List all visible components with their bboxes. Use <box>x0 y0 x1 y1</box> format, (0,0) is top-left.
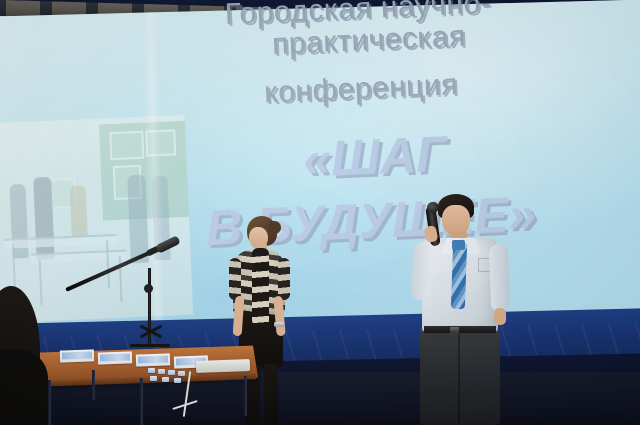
table-device <box>196 359 250 373</box>
table-badge <box>148 368 155 373</box>
woman-right-leg <box>264 364 278 425</box>
table-booklet <box>60 349 94 362</box>
slide-title-line-1: «ШАГ <box>302 125 448 189</box>
man-belt <box>424 326 496 333</box>
table-booklet <box>98 351 132 364</box>
man-right-hand <box>494 308 506 325</box>
table-booklet <box>136 353 170 366</box>
woman-left-sleeve <box>229 258 241 300</box>
audience-silhouette-shoulder <box>0 350 48 425</box>
slide-text-block: Городская научно- практическая конференц… <box>0 0 640 362</box>
man-left-arm <box>410 242 432 301</box>
man-right-arm <box>489 244 510 313</box>
table-badge <box>178 371 185 376</box>
slide-heading-line-3: конференция <box>264 68 459 110</box>
table-leg-4 <box>92 370 95 400</box>
table-badge <box>174 378 181 383</box>
man-necktie <box>451 243 467 309</box>
woman-hair-bun <box>268 221 281 234</box>
mic-stand-knob <box>144 284 153 293</box>
photo-scene: Городская научно- практическая конференц… <box>0 0 640 425</box>
table-badge <box>162 377 169 382</box>
slide-heading-line-2: практическая <box>271 20 466 62</box>
man-necktie-knot <box>452 240 465 250</box>
woman-wristwatch <box>274 322 284 327</box>
man-trousers <box>420 331 500 425</box>
man-belt-buckle <box>450 327 459 333</box>
table-badge <box>158 369 165 374</box>
woman-scarf <box>252 248 269 326</box>
table-leg-1 <box>48 380 51 425</box>
table-leg-3 <box>244 376 247 416</box>
mic-stand-foot-1 <box>130 344 170 347</box>
man-trouser-crease <box>458 334 460 425</box>
woman-right-sleeve <box>278 258 290 300</box>
projection-screen: Городская научно- практическая конференц… <box>0 0 640 357</box>
table-leg-2 <box>140 378 143 425</box>
table-badge <box>168 370 175 375</box>
table-badge <box>150 376 157 381</box>
